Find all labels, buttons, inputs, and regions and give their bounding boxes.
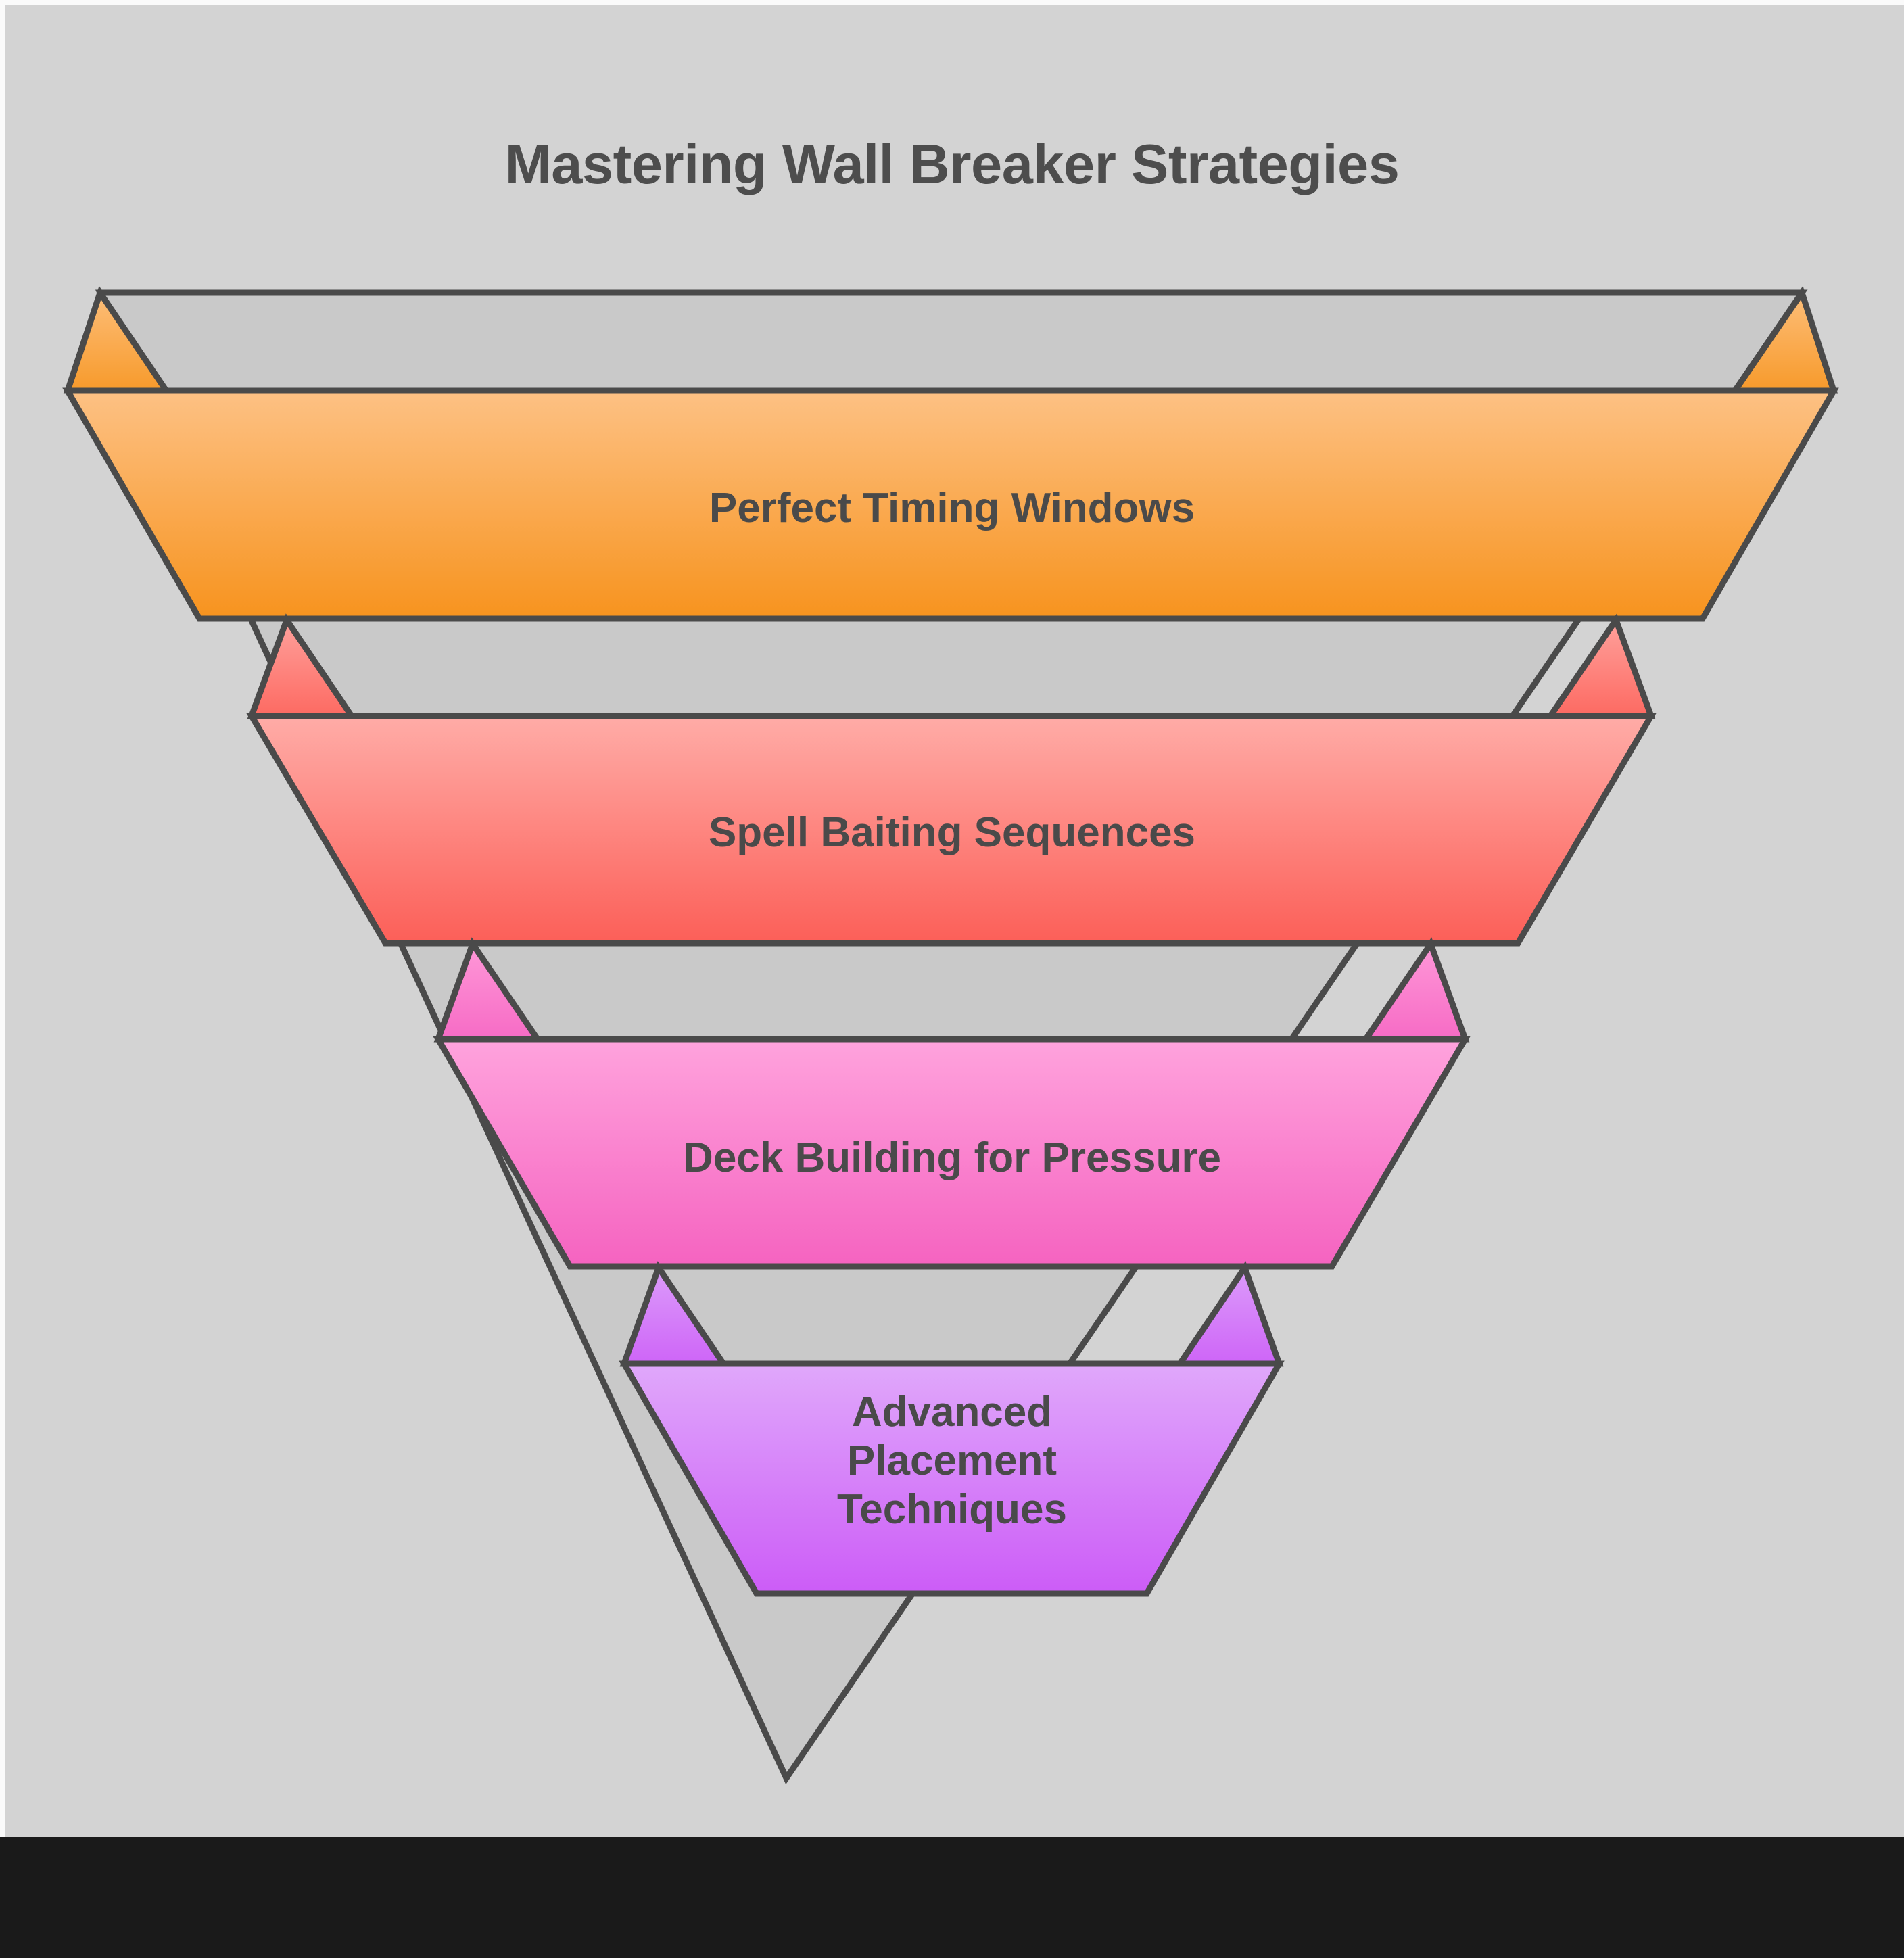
funnel-band-3[interactable] — [438, 1039, 1465, 1266]
funnel-wing-right-3 — [1366, 944, 1465, 1039]
funnel-graphic — [0, 0, 1904, 1958]
funnel-wing-right-4 — [1180, 1268, 1279, 1364]
chart-title: Mastering Wall Breaker Strategies — [0, 133, 1904, 195]
funnel-chart-stage: Mastering Wall Breaker Strategies Perfec… — [0, 0, 1904, 1958]
funnel-band-2[interactable] — [252, 716, 1651, 943]
funnel-band-1[interactable] — [68, 391, 1834, 619]
footer-bar — [0, 1837, 1904, 1958]
